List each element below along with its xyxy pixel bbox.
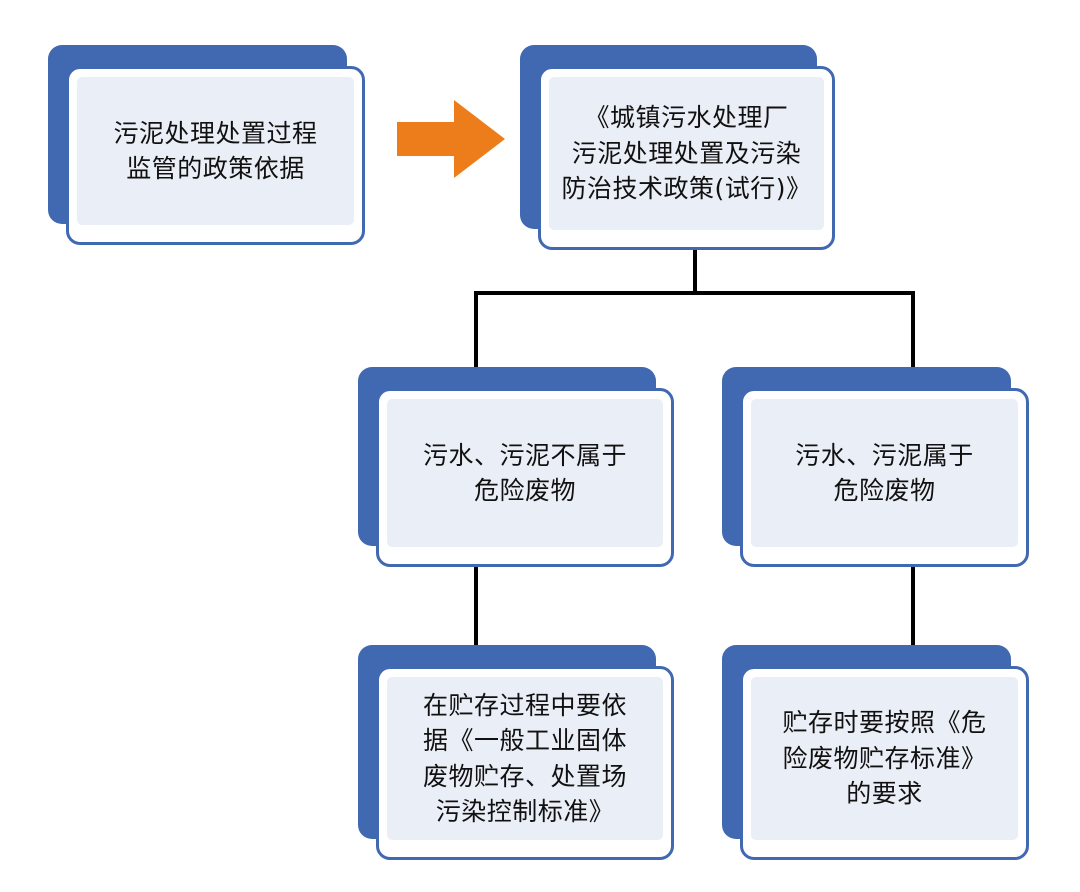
node-label: 贮存时要按照《危 险废物贮存标准》 的要求 — [782, 705, 986, 812]
node-panel: 贮存时要按照《危 险废物贮存标准》 的要求 — [751, 677, 1018, 840]
connector-left-to-bottom — [474, 565, 478, 647]
node-frame: 污水、污泥不属于 危险废物 — [376, 388, 674, 567]
node-general-solid-standard[interactable]: 在贮存过程中要依 据《一般工业固体 废物贮存、处置场 污染控制标准》 — [358, 645, 674, 860]
connector-branch-bar — [474, 291, 915, 295]
right-block-arrow-icon — [397, 100, 505, 178]
node-hazardous-standard[interactable]: 贮存时要按照《危 险废物贮存标准》 的要求 — [722, 645, 1029, 860]
node-panel: 污泥处理处置过程 监管的政策依据 — [77, 77, 354, 225]
connector-document-stem — [693, 250, 697, 295]
node-not-hazardous[interactable]: 污水、污泥不属于 危险废物 — [358, 367, 674, 567]
node-panel: 在贮存过程中要依 据《一般工业固体 废物贮存、处置场 污染控制标准》 — [387, 677, 663, 840]
node-frame: 贮存时要按照《危 险废物贮存标准》 的要求 — [740, 666, 1029, 860]
node-label: 污水、污泥属于 危险废物 — [795, 438, 974, 509]
node-frame: 在贮存过程中要依 据《一般工业固体 废物贮存、处置场 污染控制标准》 — [376, 666, 674, 860]
node-frame: 污水、污泥属于 危险废物 — [740, 388, 1029, 567]
node-panel: 《城镇污水处理厂 污泥处理处置及污染 防治技术政策(试行)》 — [549, 77, 824, 230]
connector-branch-left-drop — [474, 291, 478, 369]
flowchart-canvas: 污泥处理处置过程 监管的政策依据 《城镇污水处理厂 污泥处理处置及污染 防治技术… — [0, 0, 1080, 892]
node-label: 污水、污泥不属于 危险废物 — [423, 438, 627, 509]
node-label: 在贮存过程中要依 据《一般工业固体 废物贮存、处置场 污染控制标准》 — [423, 688, 627, 830]
node-frame: 污泥处理处置过程 监管的政策依据 — [66, 66, 365, 245]
node-is-hazardous[interactable]: 污水、污泥属于 危险废物 — [722, 367, 1029, 567]
connector-right-to-bottom — [911, 565, 915, 647]
connector-branch-right-drop — [911, 291, 915, 369]
node-panel: 污水、污泥属于 危险废物 — [751, 399, 1018, 547]
node-policy-document[interactable]: 《城镇污水处理厂 污泥处理处置及污染 防治技术政策(试行)》 — [520, 45, 835, 250]
node-frame: 《城镇污水处理厂 污泥处理处置及污染 防治技术政策(试行)》 — [538, 66, 835, 250]
node-policy-basis[interactable]: 污泥处理处置过程 监管的政策依据 — [48, 45, 365, 245]
node-label: 《城镇污水处理厂 污泥处理处置及污染 防治技术政策(试行)》 — [561, 100, 811, 207]
node-label: 污泥处理处置过程 监管的政策依据 — [113, 116, 317, 187]
node-panel: 污水、污泥不属于 危险废物 — [387, 399, 663, 547]
